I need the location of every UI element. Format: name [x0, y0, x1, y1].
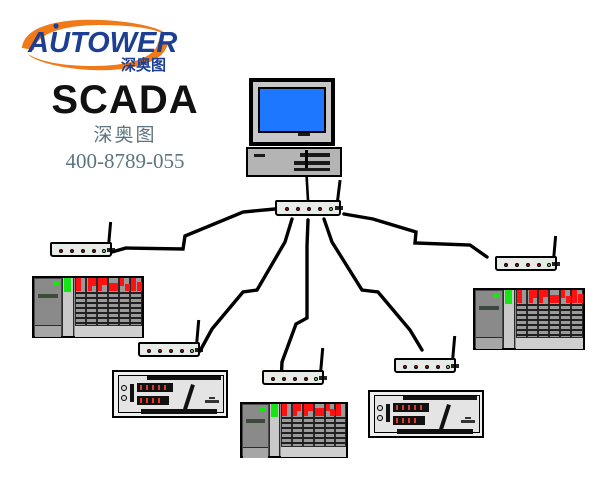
slot-marker-red [539, 290, 548, 297]
display-digit [396, 405, 398, 410]
slot-marker-red [517, 290, 522, 303]
router-body [495, 256, 557, 271]
router-port [451, 364, 459, 368]
computer-case [246, 147, 342, 177]
led-2 [515, 263, 519, 267]
slot-marker-red [131, 278, 136, 291]
led-2 [158, 349, 162, 353]
rtu-knob-1 [121, 385, 127, 391]
link-master-to-site-1 [112, 209, 275, 252]
slot-marker-red [336, 404, 341, 416]
slot-marker-red [88, 286, 92, 291]
rtu-knob-1 [377, 405, 383, 411]
terminal-row [516, 334, 583, 336]
terminal-row [75, 312, 142, 314]
slot-marker-red [578, 294, 583, 303]
display-digit [396, 418, 398, 423]
terminal-row [75, 292, 142, 294]
cpu-label [246, 419, 265, 423]
router-port [319, 376, 327, 380]
display-digit [146, 385, 148, 390]
terminal-row [516, 304, 583, 306]
terminal-row [281, 427, 346, 429]
workstation-link-stub [305, 150, 308, 168]
led-4 [318, 207, 322, 211]
rtu-display-1 [137, 383, 173, 392]
slot-marker-red [88, 278, 96, 286]
monitor-bezel [251, 80, 333, 144]
led-3 [307, 207, 311, 211]
terminal-row [516, 329, 583, 331]
rtu-connector [386, 404, 390, 422]
case-drive-3 [294, 168, 330, 171]
terminal-row [75, 302, 142, 304]
rtu-face [374, 395, 480, 433]
rtu-knob-2 [377, 415, 383, 421]
display-digit [414, 418, 416, 423]
display-digit [408, 418, 410, 423]
display-digit [152, 385, 154, 390]
slot-marker-red [282, 404, 287, 416]
monitor-screen [258, 87, 326, 133]
plc-base-rail [281, 446, 346, 457]
router-body [275, 200, 341, 216]
plc-base-rail [75, 325, 142, 337]
router-port [335, 206, 343, 210]
router-body [50, 242, 112, 257]
slot-marker-red [315, 408, 324, 416]
plc-cpu-module [34, 278, 62, 336]
plc-cpu-module [242, 404, 269, 456]
led-2 [414, 365, 418, 369]
diagram-canvas: AUTOWER 深奥图 SCADA 深奥图 400-8789-055 [0, 0, 600, 480]
rtu-bottom-terminal-strip [141, 409, 217, 414]
slot-marker-green [64, 278, 71, 292]
slot-marker-red [98, 278, 107, 285]
link-master-to-site-3 [200, 219, 292, 351]
led-2 [296, 207, 300, 211]
led-1 [285, 207, 289, 211]
slot-marker-red [550, 295, 559, 303]
terminal-row [281, 432, 346, 434]
display-digit [140, 385, 142, 390]
terminal-row [516, 309, 583, 311]
slot-marker-red [529, 298, 533, 303]
terminal-row [75, 322, 142, 324]
led-4 [436, 365, 440, 369]
link-master-to-site-2 [344, 214, 487, 257]
led-1 [59, 249, 63, 253]
router-body [138, 342, 200, 357]
rtu-top-terminal-strip [147, 376, 221, 380]
case-power-slot [254, 154, 265, 157]
display-digit [408, 405, 410, 410]
display-digit [140, 398, 142, 403]
router-port [107, 248, 115, 252]
router-port [552, 262, 560, 266]
cpu-label [38, 294, 58, 298]
led-3 [293, 377, 297, 381]
led-4 [92, 249, 96, 253]
slot-marker-red [293, 411, 297, 416]
rtu-display-2 [393, 416, 425, 425]
led-5 [102, 249, 106, 253]
case-drive-2 [294, 161, 330, 165]
scada-workstation[interactable] [249, 78, 342, 177]
slot-marker-red [293, 404, 301, 411]
terminal-row [281, 437, 346, 439]
plc-chassis [242, 404, 346, 456]
monitor [249, 78, 335, 146]
led-5 [446, 365, 450, 369]
router-body [262, 370, 324, 385]
led-3 [425, 365, 429, 369]
rtu-faceplate-slash [183, 384, 195, 410]
led-3 [81, 249, 85, 253]
rtu-faceplate-slash [439, 404, 451, 430]
display-digit [158, 385, 160, 390]
led-3 [169, 349, 173, 353]
cpu-run-led [260, 407, 266, 412]
remote-site-plc-bottom-center[interactable] [240, 402, 348, 458]
slot-marker-red [572, 290, 577, 303]
led-3 [526, 263, 530, 267]
slot-marker-red [120, 278, 124, 286]
rtu-top-terminal-strip [403, 396, 477, 400]
slot-marker-red [561, 290, 565, 298]
display-digit [402, 405, 404, 410]
cpu-base [35, 325, 61, 337]
led-4 [537, 263, 541, 267]
led-5 [190, 349, 194, 353]
led-1 [504, 263, 508, 267]
led-1 [147, 349, 151, 353]
led-1 [403, 365, 407, 369]
display-digit [402, 418, 404, 423]
terminal-row [516, 319, 583, 321]
rtu-brand-mark [461, 420, 475, 423]
led-1 [271, 377, 275, 381]
display-digit [164, 385, 166, 390]
rtu-display-1 [393, 403, 429, 412]
slot-marker-green [505, 290, 512, 304]
rtu-brand-mark [465, 417, 471, 419]
led-4 [180, 349, 184, 353]
router-port [195, 348, 203, 352]
cpu-label [479, 306, 499, 310]
led-5 [329, 207, 333, 211]
remote-site-rtu-bottom-right[interactable] [368, 390, 484, 438]
display-digit [152, 398, 154, 403]
rtu-brand-mark [205, 400, 219, 403]
slot-marker-red [76, 278, 81, 291]
cpu-run-led [494, 293, 500, 298]
terminal-row [281, 422, 346, 424]
display-digit [146, 398, 148, 403]
router-body [394, 358, 456, 373]
slot-marker-red [304, 411, 308, 416]
display-digit [158, 398, 160, 403]
remote-site-plc-right[interactable] [473, 288, 585, 350]
cpu-base [243, 447, 268, 458]
plc-cpu-module [475, 290, 503, 348]
remote-site-rtu-bottom-left[interactable] [112, 370, 228, 418]
rtu-connector [130, 384, 134, 402]
terminal-row [281, 442, 346, 444]
rtu-brand-mark [209, 397, 215, 399]
cpu-run-led [53, 281, 59, 286]
terminal-row [281, 417, 346, 419]
led-5 [314, 377, 318, 381]
display-digit [420, 405, 422, 410]
led-4 [304, 377, 308, 381]
monitor-foot [258, 133, 326, 137]
remote-site-plc-left[interactable] [32, 276, 144, 338]
slot-marker-red [109, 283, 118, 291]
rtu-bottom-terminal-strip [397, 429, 473, 434]
plc-base-rail [516, 337, 583, 349]
rtu-display-2 [137, 396, 169, 405]
terminal-row [75, 317, 142, 319]
plc-chassis [475, 290, 583, 348]
link-master-to-site-5 [324, 219, 422, 350]
plc-chassis [34, 278, 142, 336]
terminal-row [75, 297, 142, 299]
terminal-row [516, 314, 583, 316]
slot-marker-red [529, 290, 537, 298]
monitor-led [298, 133, 310, 136]
rtu-knob-2 [121, 395, 127, 401]
slot-marker-red [98, 285, 102, 291]
cpu-base [476, 337, 502, 349]
terminal-row [516, 324, 583, 326]
slot-marker-green [271, 404, 278, 417]
led-5 [547, 263, 551, 267]
terminal-row [75, 307, 142, 309]
led-2 [282, 377, 286, 381]
slot-marker-red [304, 404, 313, 411]
display-digit [414, 405, 416, 410]
rtu-chassis [114, 372, 226, 416]
rtu-face [118, 375, 224, 413]
slot-marker-red [137, 282, 142, 291]
slot-marker-red [539, 297, 543, 303]
rtu-chassis [370, 392, 482, 436]
led-2 [70, 249, 74, 253]
